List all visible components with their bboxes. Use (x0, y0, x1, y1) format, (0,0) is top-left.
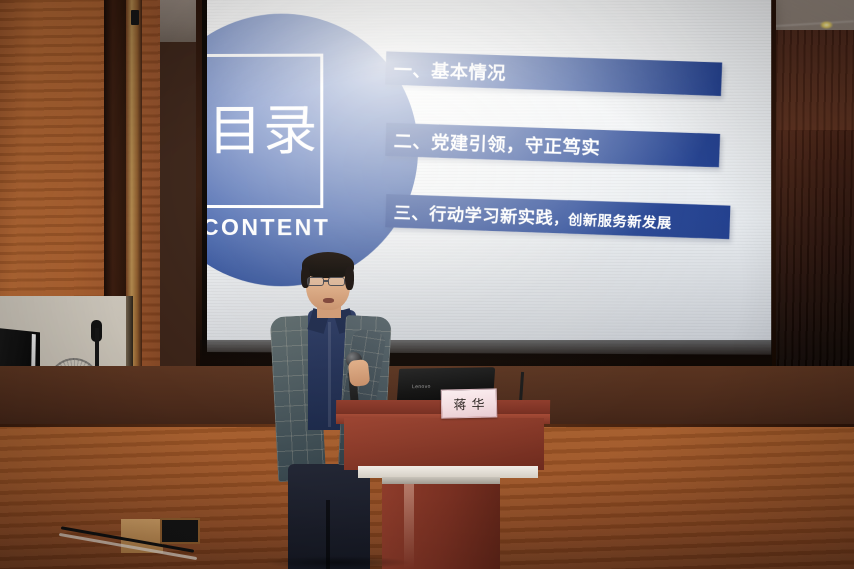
content-badge-english: CONTENT (207, 214, 351, 241)
mouth (323, 298, 334, 303)
wall-switch-icon[interactable] (131, 10, 139, 25)
nameplate: 蒋 华 (441, 388, 498, 418)
downlight-icon (820, 21, 833, 29)
agenda-item-2: 二、党建引领，守正笃实 (385, 123, 720, 168)
floor-shadow (262, 556, 412, 569)
agenda-list: 一、基本情况 二、党建引领，守正笃实 三、行动学习新实践，创新服务新发展 (386, 50, 763, 228)
podium-column-band (382, 477, 500, 484)
nameplate-surname: 蒋 (453, 394, 466, 413)
glasses-bridge (324, 280, 329, 282)
content-badge-box: 目录 (207, 54, 323, 208)
glasses-icon (328, 277, 345, 286)
laptop-brand-label: Lenovo (412, 384, 431, 390)
nameplate-given-name: 华 (471, 394, 484, 413)
shirt-placket (328, 322, 331, 427)
hand-holding-mic (348, 359, 371, 387)
hair-side-right (345, 266, 354, 290)
content-badge-chinese: 目录 (208, 103, 318, 159)
agenda-item-2-text: 二、党建引领，守正笃实 (385, 126, 600, 159)
podium-front-panel (344, 418, 544, 470)
glasses-icon (307, 277, 324, 286)
floor-socket-panel[interactable] (160, 518, 200, 544)
agenda-item-3: 三、行动学习新实践，创新服务新发展 (385, 194, 730, 239)
photo-scene: 目录 CONTENT 一、基本情况 二、党建引领，守正笃实 三、行动学习新实践，… (0, 0, 854, 569)
agenda-item-3-text: 三、行动学习新实践，创新服务新发展 (385, 198, 672, 233)
agenda-item-1-text: 一、基本情况 (385, 55, 506, 85)
agenda-item-1: 一、基本情况 (385, 51, 722, 96)
